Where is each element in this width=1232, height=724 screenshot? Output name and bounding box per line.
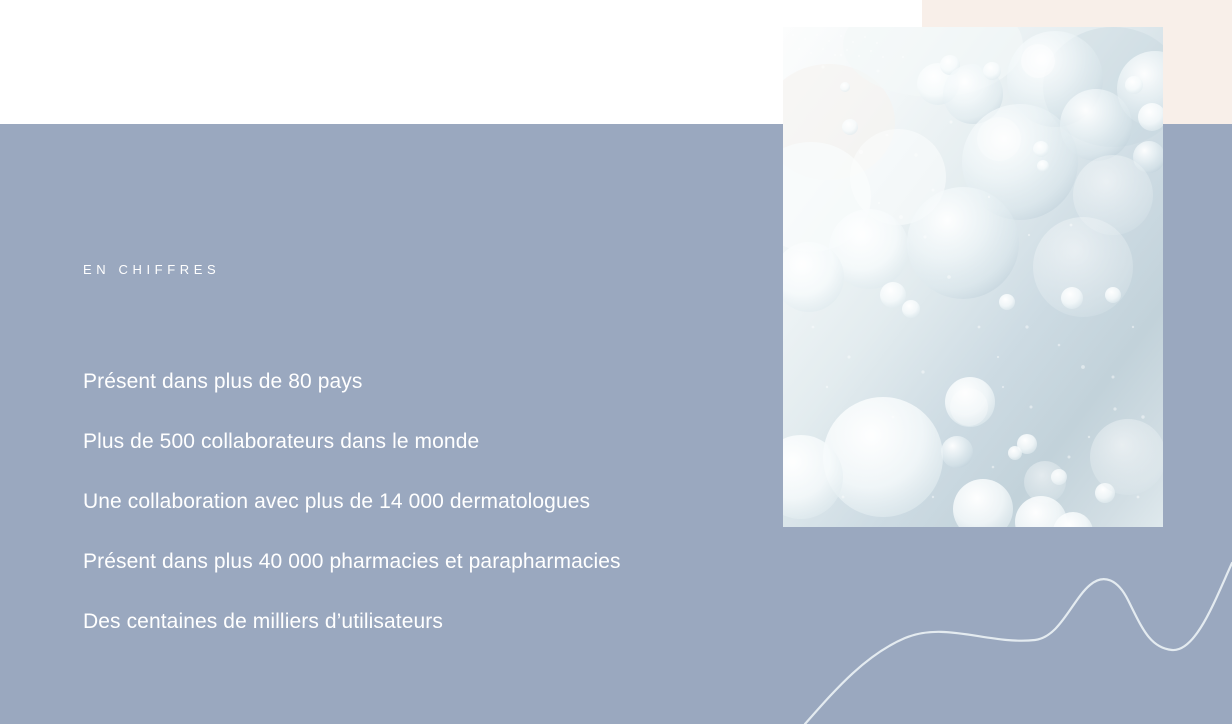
stat-item: Des centaines de milliers d’utilisateurs [83, 592, 723, 652]
stat-item: Plus de 500 collaborateurs dans le monde [83, 412, 723, 472]
stat-item: Présent dans plus de 80 pays [83, 352, 723, 412]
stat-item: Une collaboration avec plus de 14 000 de… [83, 472, 723, 532]
bubbles-photo-svg [783, 27, 1163, 527]
stat-item: Présent dans plus 40 000 pharmacies et p… [83, 532, 723, 592]
stats-list: Présent dans plus de 80 pays Plus de 500… [83, 352, 723, 652]
section-eyebrow-label: EN CHIFFRES [83, 261, 220, 279]
bubbles-photo [783, 27, 1163, 527]
